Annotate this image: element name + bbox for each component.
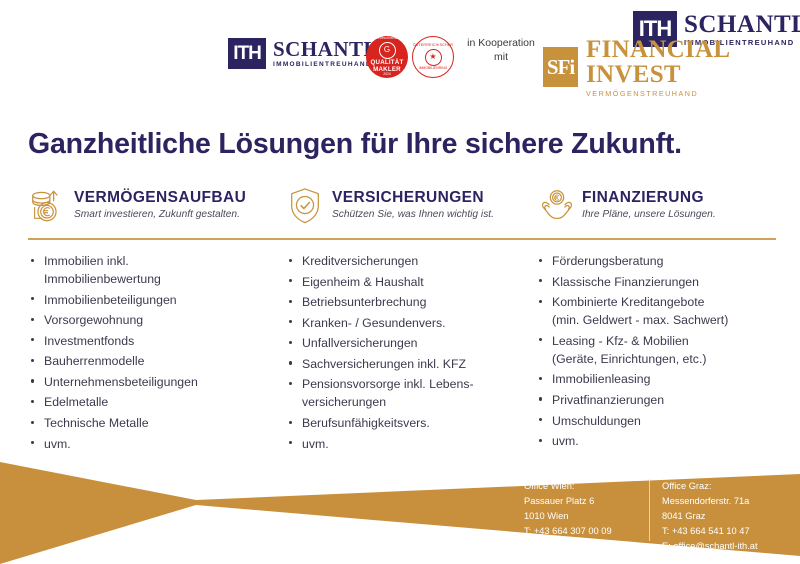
bullet-dot-icon	[31, 318, 34, 321]
office-wien-block: Office Wien: Passauer Platz 6 1010 Wien …	[524, 479, 649, 554]
bullet-dot-icon	[289, 341, 292, 344]
list-item: Immobilienleasing	[536, 370, 786, 388]
office-phone[interactable]: T: +43 664 541 10 47	[662, 524, 758, 539]
list-item-label: Edelmetalle	[44, 395, 108, 409]
list-item-label: Unternehmensbeteiligungen	[44, 375, 198, 389]
footer-divider	[649, 479, 650, 541]
list-item: Umschuldungen	[536, 412, 786, 430]
section-title: FINANZIERUNG	[582, 190, 716, 206]
list-item-label: Immobilienbeteiligungen	[44, 293, 177, 307]
badge-top-text: ÖSTERREICHISCHER	[413, 44, 453, 48]
bullet-dot-icon	[31, 297, 34, 300]
bullet-dot-icon	[31, 421, 34, 424]
list-item: Kranken- / Gesundenvers.	[286, 314, 536, 332]
cooperation-label: in Kooperation mit	[466, 37, 536, 65]
ith-wordmark: SCHANTL	[684, 12, 800, 37]
logo-ith-schantl-secondary: ITH SCHANTL IMMOBILIENTREUHAND	[228, 38, 378, 69]
list-item: Immobilienbeteiligungen	[28, 291, 286, 309]
office-phone[interactable]: T: +43 664 307 00 09	[524, 524, 649, 539]
ith-monogram-icon: ITH	[228, 38, 266, 69]
bullet-dot-icon	[31, 379, 34, 382]
office-email[interactable]: E: office@schantl-ith.at	[662, 539, 758, 554]
ith-tagline: IMMOBILIENTREUHAND	[273, 62, 378, 69]
bullet-dot-icon	[289, 279, 292, 282]
section-header-finanzierung: FINANZIERUNG Ihre Pläne, unsere Lösungen…	[536, 186, 776, 226]
list-item-label: Leasing - Kfz- & Mobilien	[552, 334, 689, 348]
logo-sfi-financial-invest: SFi FINANCIAL INVEST VERMÖGENSTREUHAND	[543, 37, 800, 97]
section-headers: VERMÖGENSAUFBAU Smart investieren, Zukun…	[28, 186, 776, 226]
service-list-finanzierung: FörderungsberatungKlassische Finanzierun…	[536, 252, 786, 455]
office-name: Office Wien:	[524, 479, 649, 494]
bullet-dot-icon	[539, 259, 542, 262]
section-tagline: Ihre Pläne, unsere Lösungen.	[582, 209, 716, 220]
list-item: Vorsorgewohnung	[28, 311, 286, 329]
office-street: Messendorferstr. 71a	[662, 494, 758, 509]
list-item: Technische Metalle	[28, 414, 286, 432]
list-item: Bauherrenmodelle	[28, 352, 286, 370]
section-title: VERMÖGENSAUFBAU	[74, 190, 246, 206]
list-item: Betriebsunterbrechung	[286, 293, 536, 311]
list-item-label: Pensionsvorsorge inkl. Lebens-	[302, 377, 474, 391]
office-email[interactable]: E: office@sfi-invest.com	[524, 539, 649, 554]
section-header-versicherungen: VERSICHERUNGEN Schützen Sie, was Ihnen w…	[286, 186, 536, 226]
bullet-dot-icon	[289, 361, 292, 364]
bullet-dot-icon	[31, 259, 34, 262]
list-item: Sachversicherungen inkl. KFZ	[286, 355, 536, 373]
badge-seal-glyph-icon: ★	[425, 49, 442, 66]
list-item-label: Sachversicherungen inkl. KFZ	[302, 357, 466, 371]
list-item: Berufsunfähigkeitsvers.	[286, 414, 536, 432]
bullet-dot-icon	[289, 320, 292, 323]
list-item: Kreditversicherungen	[286, 252, 536, 270]
quality-badges: Deutschlands G QUALITÄT MAKLER 2024 ÖSTE…	[366, 36, 454, 78]
list-item: Pensionsvorsorge inkl. Lebens-versicheru…	[286, 375, 536, 411]
badge-seal-glyph-icon: G	[379, 42, 396, 59]
bullet-dot-icon	[539, 397, 542, 400]
list-item: Kombinierte Kreditangebote(min. Geldwert…	[536, 293, 786, 329]
section-header-vermoegensaufbau: VERMÖGENSAUFBAU Smart investieren, Zukun…	[28, 186, 286, 226]
list-item: Unternehmensbeteiligungen	[28, 373, 286, 391]
list-item-label: Privatfinanzierungen	[552, 393, 664, 407]
list-item-label: Kreditversicherungen	[302, 254, 418, 268]
header-logo-bar: ITH SCHANTL IMMOBILIENTREUHAND ITH SCHAN…	[0, 0, 800, 100]
list-item-label: Technische Metalle	[44, 416, 149, 430]
badge-bottom-text: 2024	[383, 73, 391, 77]
list-item: Unfallversicherungen	[286, 334, 536, 352]
list-item-label: Unfallversicherungen	[302, 336, 418, 350]
list-item: Privatfinanzierungen	[536, 391, 786, 409]
badge-bottom-text: IMMOBILIENRING	[419, 67, 447, 71]
list-item-label: Kombinierte Kreditangebote	[552, 295, 704, 309]
qualitaetsmakler-seal-icon: Deutschlands G QUALITÄT MAKLER 2024	[366, 36, 408, 78]
service-list-versicherungen: KreditversicherungenEigenheim & Haushalt…	[286, 252, 536, 455]
list-item-label: Förderungsberatung	[552, 254, 663, 268]
ith-wordmark: SCHANTL	[273, 39, 378, 60]
list-item-label: Bauherrenmodelle	[44, 354, 145, 368]
bullet-dot-icon	[31, 338, 34, 341]
list-item: Investmentfonds	[28, 332, 286, 350]
list-item-label: Kranken- / Gesundenvers.	[302, 316, 446, 330]
immobilienring-seal-icon: ÖSTERREICHISCHER ★ IMMOBILIENRING	[412, 36, 454, 78]
service-list-vermoegensaufbau: Immobilien inkl.ImmobilienbewertungImmob…	[28, 252, 286, 455]
list-item: Leasing - Kfz- & Mobilien(Geräte, Einric…	[536, 332, 786, 368]
list-item-label: Immobilienleasing	[552, 372, 650, 386]
bullet-dot-icon	[31, 359, 34, 362]
bullet-dot-icon	[289, 382, 292, 385]
list-item-label: Betriebsunterbrechung	[302, 295, 426, 309]
footer-contact-block: Office Wien: Passauer Platz 6 1010 Wien …	[524, 479, 758, 554]
bullet-dot-icon	[539, 338, 542, 341]
office-street: Passauer Platz 6	[524, 494, 649, 509]
list-item: Immobilien inkl.Immobilienbewertung	[28, 252, 286, 288]
list-item-label-continued: versicherungen	[302, 393, 536, 411]
section-title: VERSICHERUNGEN	[332, 190, 494, 206]
bullet-dot-icon	[539, 300, 542, 303]
list-item-label: Klassische Finanzierungen	[552, 275, 699, 289]
sfi-tagline: VERMÖGENSTREUHAND	[586, 90, 800, 97]
office-city: 1010 Wien	[524, 509, 649, 524]
list-item-label: Berufsunfähigkeitsvers.	[302, 416, 430, 430]
section-tagline: Smart investieren, Zukunft gestalten.	[74, 209, 246, 220]
bullet-dot-icon	[539, 377, 542, 380]
office-city: 8041 Graz	[662, 509, 758, 524]
list-item: Eigenheim & Haushalt	[286, 273, 536, 291]
bullet-dot-icon	[31, 400, 34, 403]
service-lists: Immobilien inkl.ImmobilienbewertungImmob…	[28, 252, 788, 455]
list-item: Edelmetalle	[28, 393, 286, 411]
list-item-label-continued: Immobilienbewertung	[44, 270, 286, 288]
hands-holding-coin-icon	[536, 186, 574, 226]
list-item-label: Immobilien inkl.	[44, 254, 129, 268]
list-item-label: Umschuldungen	[552, 414, 641, 428]
list-item: Förderungsberatung	[536, 252, 786, 270]
list-item: Klassische Finanzierungen	[536, 273, 786, 291]
bullet-dot-icon	[539, 418, 542, 421]
list-item-label-continued: (Geräte, Einrichtungen, etc.)	[552, 350, 786, 368]
sfi-monogram-icon: SFi	[543, 47, 578, 87]
shield-check-icon	[286, 186, 324, 226]
office-name: Office Graz:	[662, 479, 758, 494]
bullet-dot-icon	[289, 259, 292, 262]
bullet-dot-icon	[539, 279, 542, 282]
bullet-dot-icon	[289, 421, 292, 424]
coins-euro-growth-icon	[28, 186, 66, 226]
divider-rule	[28, 238, 776, 240]
sfi-wordmark: FINANCIAL INVEST	[586, 37, 800, 87]
office-graz-block: Office Graz: Messendorferstr. 71a 8041 G…	[661, 479, 758, 554]
list-item-label: Eigenheim & Haushalt	[302, 275, 424, 289]
list-item-label: Investmentfonds	[44, 334, 134, 348]
section-tagline: Schützen Sie, was Ihnen wichtig ist.	[332, 209, 494, 220]
list-item-label: Vorsorgewohnung	[44, 313, 143, 327]
bullet-dot-icon	[289, 300, 292, 303]
badge-top-text: Deutschlands	[375, 37, 399, 41]
page-title: Ganzheitliche Lösungen für Ihre sichere …	[28, 128, 778, 161]
list-item-label-continued: (min. Geldwert - max. Sachwert)	[552, 311, 786, 329]
